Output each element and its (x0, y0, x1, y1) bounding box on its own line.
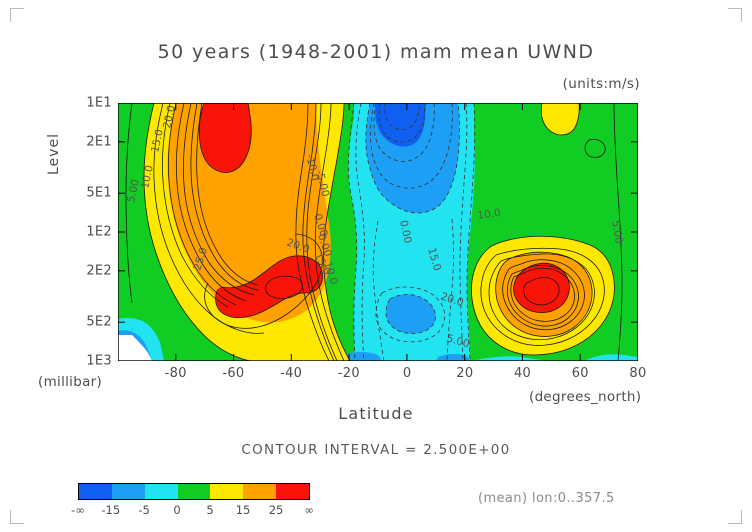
x-tick: -40 (280, 366, 302, 381)
contour-plot: 5.00 10.0 15.0 20.0 25.0 20.0 15.0 10.0 … (118, 103, 638, 361)
y-axis-label: Level (46, 133, 62, 175)
colorbar-segment (145, 484, 178, 499)
y-tick: 1E3 (86, 354, 112, 369)
y-tick: 5E1 (86, 186, 112, 201)
colorbar-label: 25 (269, 503, 284, 517)
colorbar-segment (210, 484, 243, 499)
x-tick: 0 (403, 366, 412, 381)
colorbar-segment (79, 484, 112, 499)
colorbar-segment (178, 484, 211, 499)
chart-title: 50 years (1948-2001) mam mean UWND (0, 41, 752, 63)
colorbar-segment (112, 484, 145, 499)
colorbar-labels: -∞ -15 -5 0 5 15 25 ∞ (48, 503, 340, 517)
colorbar-label: 5 (206, 503, 213, 517)
y-tick: 2E1 (86, 134, 112, 149)
y-axis-ticks: 1E1 2E1 5E1 1E2 2E2 5E2 1E3 (66, 103, 112, 361)
crop-mark-top-right (728, 8, 742, 22)
colorbar-label: 15 (236, 503, 251, 517)
x-tick: -20 (338, 366, 360, 381)
x-tick: 40 (514, 366, 531, 381)
y-tick: 1E2 (86, 225, 112, 240)
colorbar-label: ∞ (304, 503, 314, 517)
x-axis-ticks: -80 -60 -40 -20 0 20 40 60 80 (118, 366, 638, 384)
contour-interval-note: CONTOUR INTERVAL = 2.500E+00 (0, 442, 752, 458)
x-tick: 80 (629, 366, 646, 381)
colorbar-segment (243, 484, 276, 499)
colorbar-label: 0 (173, 503, 180, 517)
y-tick: 2E2 (86, 263, 112, 278)
contour-plot-svg: 5.00 10.0 15.0 20.0 25.0 20.0 15.0 10.0 … (118, 103, 638, 361)
crop-mark-bottom-left (10, 510, 24, 524)
colorbar-label: -15 (101, 503, 120, 517)
mean-longitude-note: (mean) lon:0..357.5 (478, 491, 615, 506)
colorbar-label: -5 (138, 503, 149, 517)
figure-page: 50 years (1948-2001) mam mean UWND (unit… (0, 0, 752, 532)
x-axis-units: (degrees_north) (529, 389, 641, 405)
colorbar-segment (276, 484, 309, 499)
y-tick: 1E1 (86, 96, 112, 111)
x-tick: -60 (222, 366, 244, 381)
x-tick: -80 (165, 366, 187, 381)
crop-mark-bottom-right (728, 510, 742, 524)
colorbar-label: -∞ (71, 503, 85, 517)
x-tick: 20 (456, 366, 473, 381)
y-axis-units: (millibar) (38, 374, 102, 390)
x-axis-label: Latitude (0, 404, 752, 423)
y-tick: 5E2 (86, 315, 112, 330)
crop-mark-top-left (10, 8, 24, 22)
x-tick: 60 (572, 366, 589, 381)
colorbar (78, 483, 310, 500)
units-note: (units:m/s) (563, 76, 640, 92)
